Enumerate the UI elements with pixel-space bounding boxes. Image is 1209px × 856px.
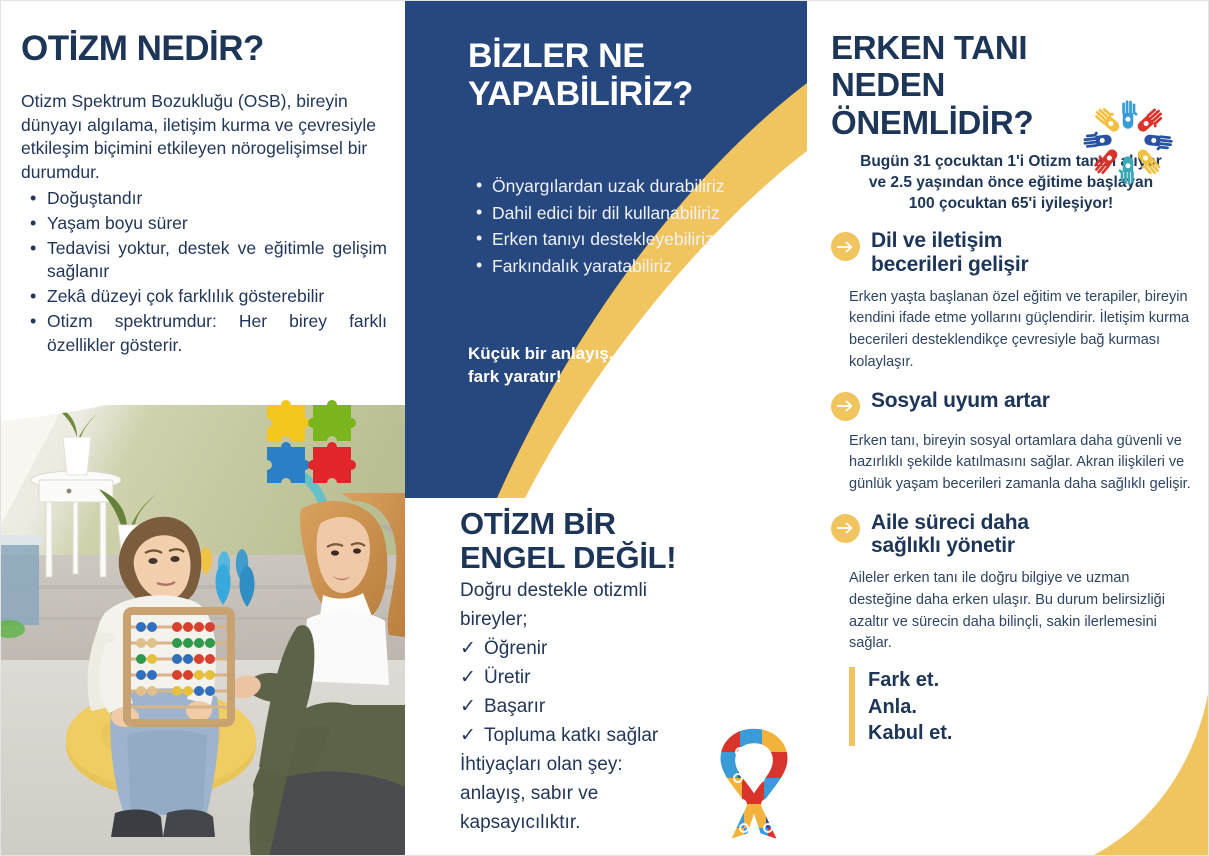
- tagline-line1: Küçük bir anlayış, büyük bir: [468, 342, 778, 366]
- arrow-right-glyph: [837, 400, 854, 412]
- list-item: Doğuştandır: [47, 187, 387, 211]
- check-label: Üretir: [484, 667, 530, 688]
- panel-what-is-autism: OTİZM NEDİR? Otizm Spektrum Bozukluğu (O…: [1, 1, 405, 856]
- stat-line3: 100 çocuktan 65'i iyileşiyor!: [909, 195, 1113, 212]
- tagline: Küçük bir anlayış, büyük bir fark yaratı…: [468, 342, 778, 390]
- tagline-line2: fark yaratır!: [468, 365, 778, 389]
- check-icon: ✓: [460, 634, 484, 663]
- actions-list: Önyargılardan uzak durabiliriz Dahil edi…: [468, 173, 778, 279]
- arrow-right-circle-icon: [831, 392, 860, 421]
- autism-puzzle-ribbon-icon: [704, 724, 804, 849]
- check-label: Topluma katkı sağlar: [484, 725, 658, 746]
- benefit-header: Dil ve iletişim becerileri gelişir: [831, 229, 1191, 276]
- motto-line: Anla.: [868, 694, 1191, 720]
- benefit-title-line1: Dil ve iletişim: [871, 229, 1002, 252]
- mid-title-line2: YAPABİLİRİZ?: [468, 75, 693, 113]
- benefit-header: Sosyal uyum artar: [831, 389, 1191, 421]
- list-item: Dahil edici bir dil kullanabiliriz: [492, 200, 778, 227]
- panel-what-can-we-do: BİZLER NE YAPABİLİRİZ? Önyargılardan uza…: [405, 1, 807, 498]
- check-icon: ✓: [460, 692, 484, 721]
- colored-handprints-circle-icon: [1083, 98, 1173, 188]
- motto-block: Fark et. Anla. Kabul et.: [849, 667, 1191, 746]
- check-label: Başarır: [484, 696, 545, 717]
- list-item: Yaşam boyu sürer: [47, 212, 387, 236]
- page-title: OTİZM NEDİR?: [21, 31, 387, 68]
- mid-title-line1: BİZLER NE: [468, 37, 645, 75]
- brochure-page: OTİZM NEDİR? Otizm Spektrum Bozukluğu (O…: [0, 0, 1209, 856]
- mid-panel-title: BİZLER NE YAPABİLİRİZ?: [468, 37, 778, 113]
- benefit-body: Aileler erken tanı ile doğru bilgiye ve …: [849, 568, 1191, 655]
- list-item: Otizm spektrumdur: Her birey farklı özel…: [47, 310, 387, 358]
- mid2-title-line1: OTİZM BİR: [460, 506, 616, 541]
- arrow-right-circle-icon: [831, 514, 860, 543]
- benefit-title-line2: sağlıklı yönetir: [871, 534, 1015, 557]
- left-panel-content: OTİZM NEDİR? Otizm Spektrum Bozukluğu (O…: [21, 31, 387, 359]
- check-icon: ✓: [460, 721, 484, 750]
- puzzle-svg: [263, 399, 359, 484]
- mid-panel-content: BİZLER NE YAPABİLİRİZ? Önyargılardan uza…: [468, 37, 778, 389]
- benefit-title-line2: becerileri gelişir: [871, 253, 1029, 276]
- benefit-body: Erken yaşta başlanan özel eğitim ve tera…: [849, 287, 1191, 374]
- ribbon-svg: [704, 724, 804, 849]
- check-item: ✓Öğrenir: [460, 634, 800, 663]
- benefit-title: Aile süreci daha sağlıklı yönetir: [871, 511, 1029, 558]
- lead-line1: Doğru destekle otizmli: [460, 576, 800, 605]
- motto-line: Kabul et.: [868, 720, 1191, 746]
- list-item: Tedavisi yoktur, destek ve eğitimle geli…: [47, 237, 387, 285]
- check-label: Öğrenir: [484, 638, 547, 659]
- mid2-title-line2: ENGEL DEĞİL!: [460, 540, 676, 575]
- motto-line: Fark et.: [868, 667, 1191, 693]
- intro-paragraph: Otizm Spektrum Bozukluğu (OSB), bireyin …: [21, 90, 387, 185]
- list-item: Farkındalık yaratabiliriz: [492, 253, 778, 280]
- list-item: Önyargılardan uzak durabiliriz: [492, 173, 778, 200]
- arrow-right-glyph: [837, 241, 854, 253]
- benefit-section: Sosyal uyum artar Erken tanı, bireyin so…: [831, 389, 1191, 496]
- hands-svg: [1083, 98, 1173, 188]
- benefit-section: Aile süreci daha sağlıklı yönetir Ailele…: [831, 511, 1191, 655]
- mid2-panel-title: OTİZM BİR ENGEL DEĞİL!: [460, 507, 800, 575]
- right-title-line3: ÖNEMLİDİR?: [831, 104, 1033, 141]
- arrow-right-glyph: [837, 522, 854, 534]
- arrow-right-circle-icon: [831, 232, 860, 261]
- autism-facts-list: Doğuştandır Yaşam boyu sürer Tedavisi yo…: [21, 187, 387, 358]
- lead-line2: bireyler;: [460, 605, 800, 634]
- right-title-line2: NEDEN: [831, 66, 945, 103]
- list-item: Erken tanıyı destekleyebiliriz: [492, 226, 778, 253]
- puzzle-pieces-icon: [263, 399, 359, 484]
- benefit-body: Erken tanı, bireyin sosyal ortamlara dah…: [849, 431, 1191, 496]
- benefit-title-line1: Aile süreci daha: [871, 511, 1029, 534]
- benefit-title: Dil ve iletişim becerileri gelişir: [871, 229, 1029, 276]
- benefit-title: Sosyal uyum artar: [871, 389, 1050, 413]
- check-item: ✓Üretir: [460, 663, 800, 692]
- right-title-line1: ERKEN TANI: [831, 29, 1027, 66]
- check-item: ✓Başarır: [460, 692, 800, 721]
- benefit-section: Dil ve iletişim becerileri gelişir Erken…: [831, 229, 1191, 373]
- benefit-header: Aile süreci daha sağlıklı yönetir: [831, 511, 1191, 558]
- check-icon: ✓: [460, 663, 484, 692]
- list-item: Zekâ düzeyi çok farklılık gösterebilir: [47, 285, 387, 309]
